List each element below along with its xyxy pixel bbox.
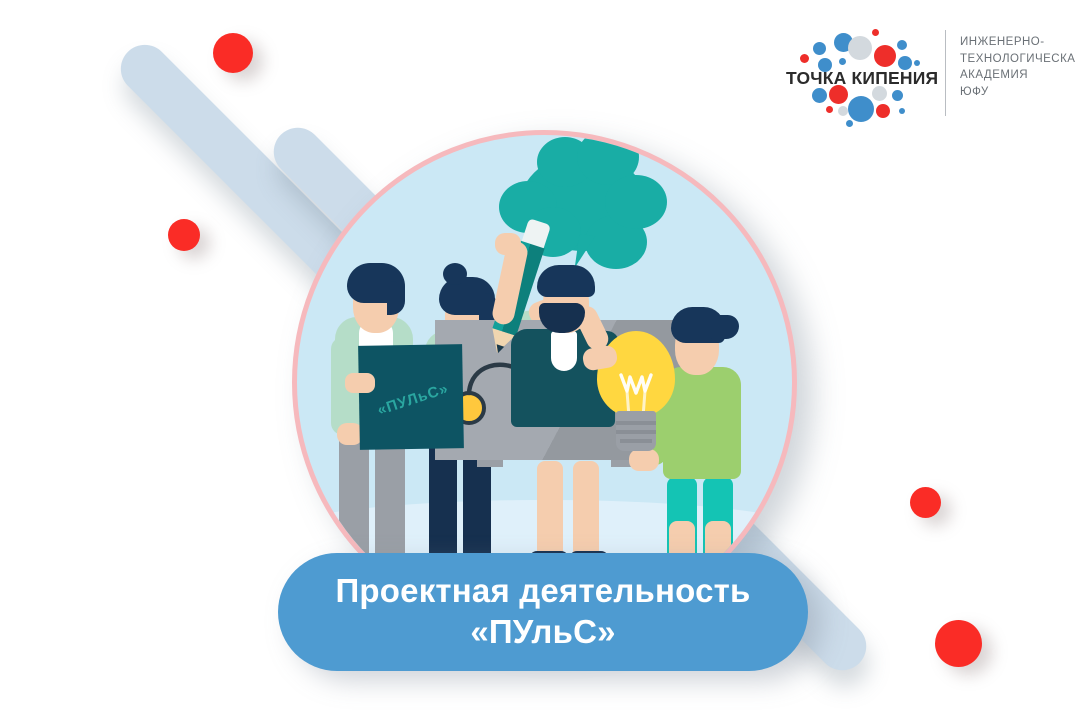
logo-wordmark: ТОЧКА КИПЕНИЯ (786, 68, 931, 89)
hand (345, 373, 375, 393)
person-figure (645, 281, 763, 599)
poster-canvas: «ПУЛьС» (0, 0, 1075, 720)
red-dot (910, 487, 941, 518)
title-banner: Проектная деятельность «ПУльС» (278, 553, 808, 671)
title-line-1: Проектная деятельность (336, 572, 751, 611)
red-dot (168, 219, 200, 251)
red-dot (213, 33, 253, 73)
title-line-2: «ПУльС» (470, 613, 615, 652)
pulse-sign-label: «ПУЛьС» (369, 378, 458, 421)
brand-logo: ТОЧКА КИПЕНИЯ ИНЖЕНЕРНО- ТЕХНОЛОГИЧЕСКАЯ… (786, 26, 1075, 126)
pulse-sign: «ПУЛьС» (358, 344, 464, 450)
red-dot (935, 620, 982, 667)
tochka-kipeniya-mark-icon: ТОЧКА КИПЕНИЯ (786, 26, 931, 126)
logo-organization-name: ИНЖЕНЕРНО- ТЕХНОЛОГИЧЕСКАЯ АКАДЕМИЯ ЮФУ (960, 34, 1075, 101)
logo-divider (945, 30, 946, 116)
